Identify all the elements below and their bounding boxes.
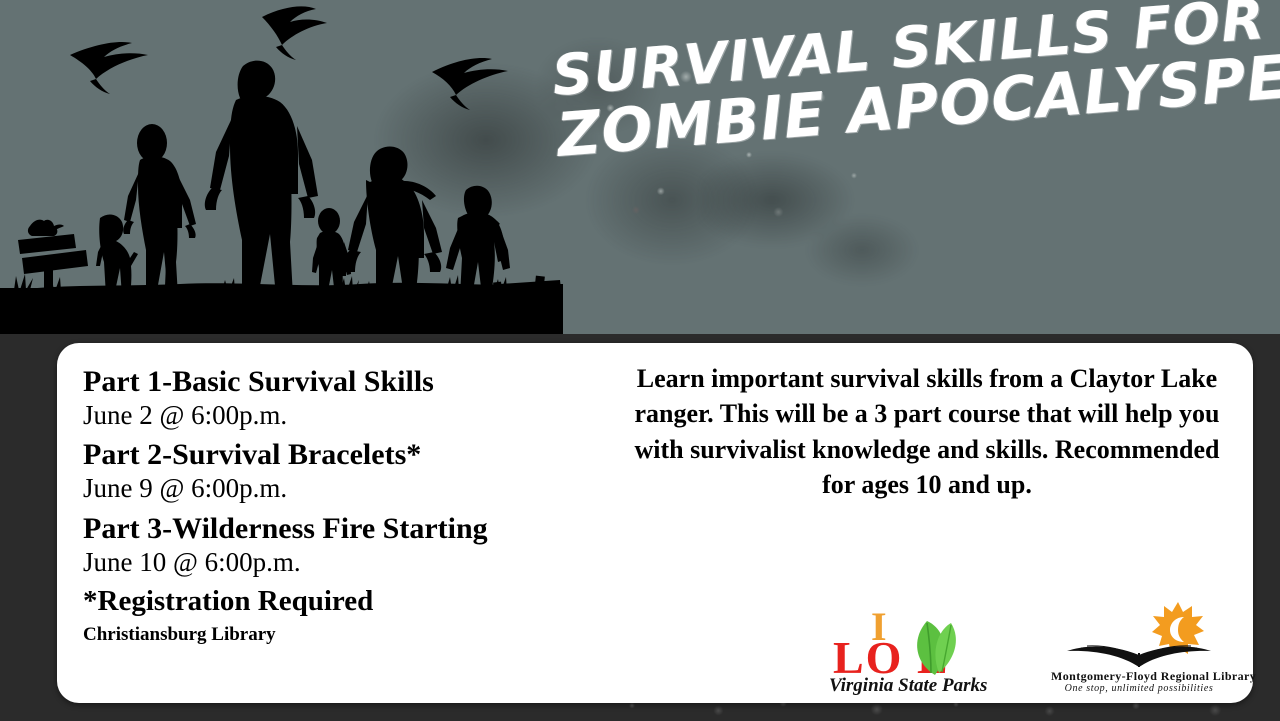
- description-column: Learn important survival skills from a C…: [617, 343, 1253, 703]
- open-book-icon: [1057, 635, 1221, 669]
- crow-silhouette: [432, 58, 508, 110]
- logo-row: I LO E Virginia State Parks: [627, 601, 1227, 703]
- montgomery-floyd-library-logo: Montgomery-Floyd Regional Library One st…: [1051, 601, 1227, 697]
- session-title-2: Part 2-Survival Bracelets*: [83, 438, 617, 472]
- event-description: Learn important survival skills from a C…: [627, 361, 1227, 502]
- zombie-silhouette-hunched: [96, 215, 138, 296]
- library-logo-tagline: One stop, unlimited possibilities: [1051, 683, 1227, 694]
- zombie-silhouette-child: [312, 208, 351, 296]
- virginia-state-parks-logo: I LO E Virginia State Parks: [827, 605, 1013, 697]
- leaf-icon: [901, 617, 963, 679]
- zombie-silhouette-tall: [205, 61, 318, 296]
- session-date-3: June 10 @ 6:00p.m.: [83, 547, 617, 579]
- library-logo-name: Montgomery-Floyd Regional Library: [1051, 669, 1227, 684]
- grass-tuft: [340, 276, 359, 291]
- session-date-1: June 2 @ 6:00p.m.: [83, 400, 617, 432]
- session-date-2: June 9 @ 6:00p.m.: [83, 473, 617, 505]
- grass-tuft: [14, 274, 33, 290]
- event-flyer: SURVIVAL SKILLS FOR THE ZOMBIE APOCALYSP…: [0, 0, 1280, 721]
- library-branch-name: Christiansburg Library: [83, 624, 617, 646]
- crow-silhouette: [262, 6, 327, 60]
- registration-note: *Registration Required: [83, 585, 617, 618]
- zombie-silhouette-hooded: [446, 186, 510, 296]
- session-title-1: Part 1-Basic Survival Skills: [83, 365, 617, 399]
- schedule-column: Part 1-Basic Survival Skills June 2 @ 6:…: [57, 343, 617, 703]
- zombie-silhouette-reaching: [123, 124, 196, 296]
- session-title-3: Part 3-Wilderness Fire Starting: [83, 512, 617, 546]
- crow-silhouette: [70, 42, 148, 94]
- vsp-tagline: Virginia State Parks: [829, 675, 987, 697]
- info-card: Part 1-Basic Survival Skills June 2 @ 6:…: [57, 343, 1253, 703]
- zombie-silhouette-rotting: [344, 146, 442, 296]
- zombie-graveyard-illustration: [0, 0, 580, 334]
